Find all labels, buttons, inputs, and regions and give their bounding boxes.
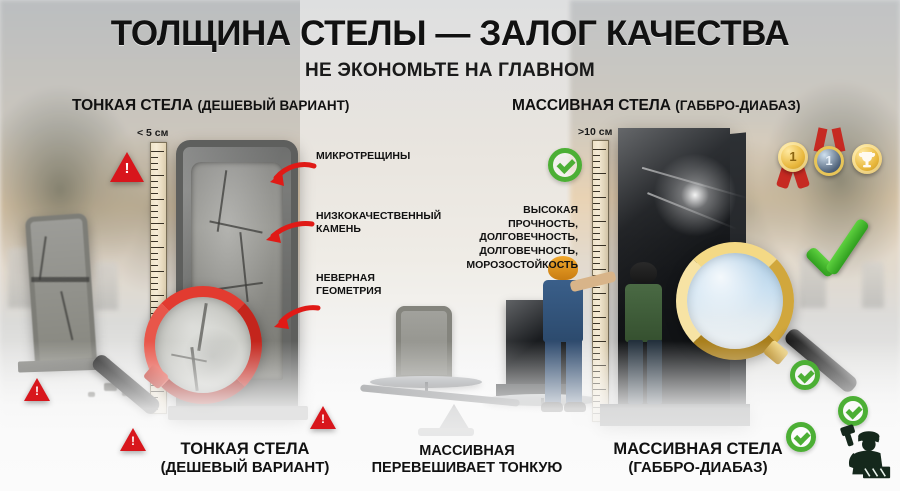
warning-triangle-icon (110, 152, 144, 182)
caption-thin-line2: (ДЕШЕВЫЙ ВАРИАНТ) (140, 459, 350, 477)
page-title: ТОЛЩИНА СТЕЛЫ — ЗАЛОГ КАЧЕСТВА (0, 14, 900, 54)
column-heading-right-paren: (ГАББРО-ДИАБАЗ) (675, 98, 800, 113)
check-circle-icon (548, 148, 582, 182)
arrow-to-microcracks (268, 160, 316, 190)
medal-rank-label: 1 (814, 146, 844, 176)
defect-label-microcracks: МИКРОТРЕЩИНЫ (316, 150, 410, 163)
column-heading-right: МАССИВНАЯ СТЕЛА (ГАББРО-ДИАБАЗ) (512, 97, 801, 115)
defect-label-geometry: НЕВЕРНАЯ ГЕОМЕТРИЯ (316, 272, 381, 298)
defect-label-lowquality: НИЗКОКАЧЕСТВЕННЫЙ КАМЕНЬ (316, 210, 441, 236)
medal-trophy-glyph (852, 144, 882, 174)
size-tag-massive: >10 см (578, 126, 612, 138)
column-heading-left-paren: (ДЕШЕВЫЙ ВАРИАНТ) (197, 98, 349, 113)
column-heading-left: ТОНКАЯ СТЕЛА (ДЕШЕВЫЙ ВАРИАНТ) (72, 97, 349, 115)
warning-triangle-icon (24, 378, 50, 401)
caption-massive-stele: МАССИВНАЯ СТЕЛА (ГАББРО-ДИАБАЗ) (578, 440, 818, 477)
check-circle-icon (838, 396, 868, 426)
benefits-label: ВЫСОКАЯ ПРОЧНОСТЬ, ДОЛГОВЕЧНОСТЬ, ДОЛГОВ… (458, 204, 578, 272)
big-checkmark-icon (806, 222, 882, 278)
size-tag-thin: < 5 см (137, 127, 168, 139)
page-subtitle: НЕ ЭКОНОМЬТЕ НА ГЛАВНОМ (0, 60, 900, 82)
distant-headstone (96, 262, 118, 310)
caption-balance-line1: МАССИВНАЯ (352, 443, 582, 460)
column-heading-right-main: МАССИВНАЯ СТЕЛА (512, 97, 675, 114)
arrow-to-lowquality-stone (264, 218, 314, 246)
medal-rank-label: 1 (778, 142, 808, 172)
caption-thin-stele: ТОНКАЯ СТЕЛА (ДЕШЕВЫЙ ВАРИАНТ) (140, 440, 350, 477)
caption-balance: МАССИВНАЯ ПЕРЕВЕШИВАЕТ ТОНКУЮ (352, 443, 582, 477)
arrow-to-wrong-geometry (272, 300, 320, 332)
stonemason-logo-icon (832, 424, 894, 486)
warning-triangle-icon (310, 406, 336, 429)
sun-flare (650, 150, 740, 240)
infographic-poster: 1 1 (0, 0, 900, 491)
column-heading-left-main: ТОНКАЯ СТЕЛА (72, 97, 197, 114)
check-circle-icon (790, 360, 820, 390)
caption-massive-line1: МАССИВНАЯ СТЕЛА (578, 440, 818, 459)
caption-balance-line2: ПЕРЕВЕШИВАЕТ ТОНКУЮ (352, 460, 582, 477)
caption-thin-line1: ТОНКАЯ СТЕЛА (140, 440, 350, 459)
caption-massive-line2: (ГАББРО-ДИАБАЗ) (578, 459, 818, 477)
